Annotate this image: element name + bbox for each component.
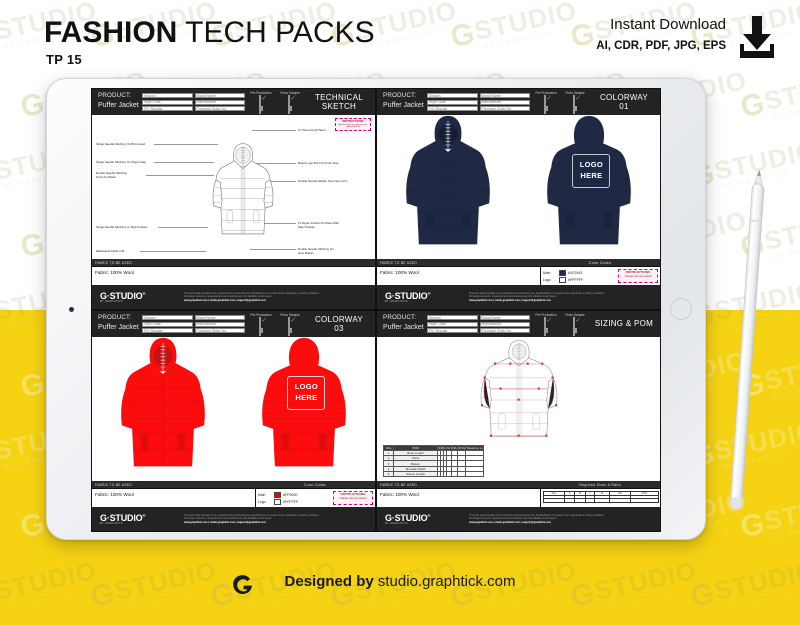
check-pre-production[interactable]: Pre Production [248,91,274,114]
date-pre-production[interactable] [546,328,548,333]
garment-figures: LOGO HERE [377,115,660,259]
pom-jacket-diagram [434,339,604,443]
fabric-value: Fabric: 100% Wool [92,489,255,507]
field-fit[interactable]: Fit / Regular [427,328,478,333]
color-code-row: Main #FF0000 [258,491,331,498]
field-brand-name[interactable]: Brand Name [480,93,531,98]
tech-pack-grid: PRODUCT: Puffer Jacket Season Style Code… [91,88,661,532]
pom-body: SNo POM S M L XL XXL XXXL Tolerance +/- [377,337,660,481]
page-title-light: TECH PACKS [177,16,374,49]
technical-sketch-canvas: INSTRUCTIONS Edit this layer to add your… [92,115,375,259]
field-brand-name[interactable]: Brand Name [195,315,246,320]
panel-badge-colorway-03: COLORWAY 03 [306,315,372,333]
field-fit[interactable]: Fit / Regular [142,106,193,111]
sketch-body: INSTRUCTIONS Edit this layer to add your… [92,115,375,259]
garment-figures: LOGO HERE [92,337,375,481]
checkbox-proto-sample[interactable] [288,95,290,114]
background-footer-yellow [0,555,800,625]
date-pre-production[interactable] [261,328,263,333]
field-style-code[interactable]: Style Code [142,322,193,327]
fabric-value: Fabric: 100% Wool [377,267,540,285]
fabric-row: Fabric: 100% Wool Main #FF0000 Logo [92,488,375,507]
field-purchase-order[interactable]: Purchase Order No. [480,328,531,333]
color-code-row: Main #1F2943 [543,269,616,276]
col-tolerance: Tolerance +/- [466,445,484,450]
g-studio-logo: G·STUDIO® BY GRAPHTICK [377,291,469,303]
poster-stage: GSTUDIOBY GRAPHTICKGSTUDIOBY GRAPHTICKGS… [0,0,800,625]
approval-checks: Pre Production Proto Sample [533,313,591,336]
color-hex-main: #FF0000 [283,493,297,497]
pack-code: TP 15 [46,52,82,67]
size-ratio-table: Size S M L XL XXL XXXL [543,491,659,503]
instructions-box: INSTRUCTIONS Change color as required [618,269,658,283]
annotation-left-4: Single Needle Stitching on Flap Pockets [96,225,147,229]
product-info: PRODUCT: Puffer Jacket [95,92,139,111]
fabric-row: Fabric: 100% Wool Size S M L XL XXL [377,488,660,507]
file-formats-label: AI, CDR, PDF, JPG, EPS [596,40,726,52]
checkbox-proto-sample[interactable] [573,317,575,336]
annotation-right-4: 2x Zipper Pocket On Sides With Flap Outs… [298,221,339,230]
annotation-left-2: Single Needle Stitching On Zipper Flap [96,160,146,164]
color-codes-box: Main #FF0000 Logo #FFFFFF [255,489,375,507]
panel-header-bar: PRODUCT: Puffer Jacket Season Style Code… [377,311,660,337]
annotation-left-5: Elasticated Fitted Cuff [96,249,124,253]
date-pre-production[interactable] [546,106,548,111]
color-swatch-logo[interactable] [559,277,566,283]
color-codes-box: Main #1F2943 Logo #FFFFFF [540,267,660,285]
annotation-right-2: Brand Logo Print On Front Flap [298,161,338,165]
colorway-body: LOGO HERE [92,337,375,481]
date-proto-sample[interactable] [290,328,292,333]
panel-colorway-03: PRODUCT: Puffer Jacket Season Style Code… [91,310,376,532]
instant-download-label: Instant Download [610,16,726,33]
check-proto-sample[interactable]: Proto Sample [562,313,588,336]
field-season[interactable]: Season [427,93,478,98]
jacket-back-navy: LOGO HERE [529,111,649,263]
field-style-code[interactable]: Style Code [427,322,478,327]
puffer-jacket-front-icon [388,111,508,263]
g-studio-logo: G·STUDIO® BY GRAPHTICK [92,513,184,525]
size-ratio-box: Size S M L XL XXL XXXL [540,489,660,507]
fabric-row: Fabric: 100% Wool Main #1F2943 Logo [377,266,660,285]
annotation-right-5: Double Needle Stitching On Hem Bottom [298,247,334,256]
fabric-value: Fabric: 100% Wool [377,489,540,507]
form-fields: Season Style Code Fit / Regular Brand Na… [424,93,533,111]
home-button[interactable] [670,298,692,320]
date-pre-production[interactable] [261,106,263,111]
color-swatch-main[interactable] [274,492,281,498]
jacket-front-red [103,333,223,485]
field-manufacturer[interactable]: Manufacturer [195,100,246,105]
terms-text: This tech pack template is for personal … [184,292,375,303]
annotation-right-1: Tri Panel Hood Panel [298,128,325,132]
product-value: Puffer Jacket [98,101,139,111]
date-proto-sample[interactable] [575,106,577,111]
product-label: PRODUCT: [98,92,139,101]
color-swatch-main[interactable] [559,270,566,276]
check-pre-production[interactable]: Pre Production [533,313,559,336]
color-code-row: Logo #FFFFFF [543,276,616,283]
product-info: PRODUCT: Puffer Jacket [95,314,139,333]
form-fields: Season Style Code Fit / Regular Brand Na… [139,315,248,333]
terms-text: This tech pack template is for personal … [469,514,660,525]
field-season[interactable]: Season [427,315,478,320]
col-xl: XL [446,445,451,450]
checkbox-pre-production[interactable] [259,95,261,114]
instructions-body: Edit this layer to add your own artwork … [338,124,367,129]
brand-strip: G·STUDIO® BY GRAPHTICK This tech pack te… [92,507,375,531]
fabric-value: Fabric: 100% Wool [92,267,375,285]
field-style-code[interactable]: Style Code [427,100,478,105]
form-fields: Season Style Code Fit / Regular Brand Na… [139,93,248,111]
instructions-box: INSTRUCTIONS Change color as required [333,491,373,505]
field-season[interactable]: Season [142,93,193,98]
footer-url: studio.graphtick.com [374,573,516,590]
color-code-row: Logo #FFFFFF [258,498,331,505]
panel-badge-colorway-01: COLORWAY 01 [591,93,657,111]
ratio-header: Required Sizes & Ratio [540,483,660,487]
date-proto-sample[interactable] [575,328,577,333]
jacket-line-art-icon [200,119,286,269]
panel-technical-sketch: PRODUCT: Puffer Jacket Season Style Code… [91,88,376,310]
g-studio-logo: G·STUDIO® BY GRAPHTICK [92,291,184,303]
footer-credit: Designed by studio.graphtick.com [0,573,800,590]
footer-designed-by: Designed by [285,573,374,590]
logo-placement-patch: LOGO HERE [572,154,610,188]
date-proto-sample[interactable] [290,106,292,111]
terms-text: This tech pack template is for personal … [184,514,375,525]
field-purchase-order[interactable]: Purchase Order No. [195,106,246,111]
panel-header-bar: PRODUCT: Puffer Jacket Season Style Code… [92,89,375,115]
check-proto-sample[interactable]: Proto Sample [277,91,303,114]
tablet-screen: PRODUCT: Puffer Jacket Season Style Code… [91,88,661,532]
panel-badge-technical-sketch: TECHNICAL SKETCH [306,93,372,111]
field-brand-name[interactable]: Brand Name [195,93,246,98]
annotation-left-1: Single Needle Stitching On Brim Hood [96,142,145,146]
download-arrow-icon [736,14,778,60]
leader-line [140,251,206,252]
panel-badge-sizing-pom: SIZING & POM [591,319,657,328]
field-manufacturer[interactable]: Manufacturer [195,322,246,327]
front-camera-icon [69,307,74,312]
colorway-body: LOGO HERE [377,115,660,259]
terms-text: This tech pack template is for personal … [469,292,660,303]
brand-strip: G·STUDIO® BY GRAPHTICK This tech pack te… [92,285,375,309]
logo-placement-patch: LOGO HERE [287,376,325,410]
form-fields: Season Style Code Fit / Regular Brand Na… [424,315,533,333]
table-row: 5 Sleeve Length [384,471,484,476]
brand-strip: G·STUDIO® BY GRAPHTICK This tech pack te… [377,507,660,531]
panel-sizing-pom: PRODUCT: Puffer Jacket Season Style Code… [376,310,661,532]
product-info: PRODUCT: Puffer Jacket [380,92,424,111]
pom-measurement-table: SNo POM S M L XL XXL XXXL Tolerance +/- [383,445,484,477]
annotation-right-3: Double Needle Hidden Sew Open Arm [298,179,347,183]
fabric-header-bar: FABRIC TO BE USED Required Sizes & Ratio [377,481,660,488]
product-info: PRODUCT: Puffer Jacket [380,314,424,333]
field-style-code[interactable]: Style Code [142,100,193,105]
col-xxl: XXL [451,445,457,450]
field-brand-name[interactable]: Brand Name [480,315,531,320]
table-row [543,499,658,503]
field-manufacturer[interactable]: Manufacturer [480,100,531,105]
approval-checks: Pre Production Proto Sample [248,91,306,114]
color-hex-main: #1F2943 [568,271,582,275]
color-swatch-logo[interactable] [274,499,281,505]
page-title-bold: FASHION [44,16,177,49]
color-hex-logo: #FFFFFF [568,278,583,282]
brand-strip: G·STUDIO® BY GRAPHTICK This tech pack te… [377,285,660,309]
col-s: S [438,445,441,450]
page-title: FASHION TECH PACKS [44,16,375,50]
instructions-box: INSTRUCTIONS Edit this layer to add your… [335,118,371,131]
col-xxxl: XXXL [457,445,465,450]
g-studio-logo: G·STUDIO® BY GRAPHTICK [377,513,469,525]
color-hex-logo: #FFFFFF [283,500,298,504]
field-manufacturer[interactable]: Manufacturer [480,322,531,327]
checkbox-pre-production[interactable] [544,317,546,336]
tablet-device: PRODUCT: Puffer Jacket Season Style Code… [46,78,706,540]
field-season[interactable]: Season [142,315,193,320]
panel-colorway-01: PRODUCT: Puffer Jacket Season Style Code… [376,88,661,310]
annotation-left-3: Double Needle Stitching Front And Back [96,171,127,180]
jacket-back-red: LOGO HERE [244,333,364,485]
puffer-jacket-front-icon [103,333,223,485]
jacket-front-navy [388,111,508,263]
col-m: M [440,445,443,450]
